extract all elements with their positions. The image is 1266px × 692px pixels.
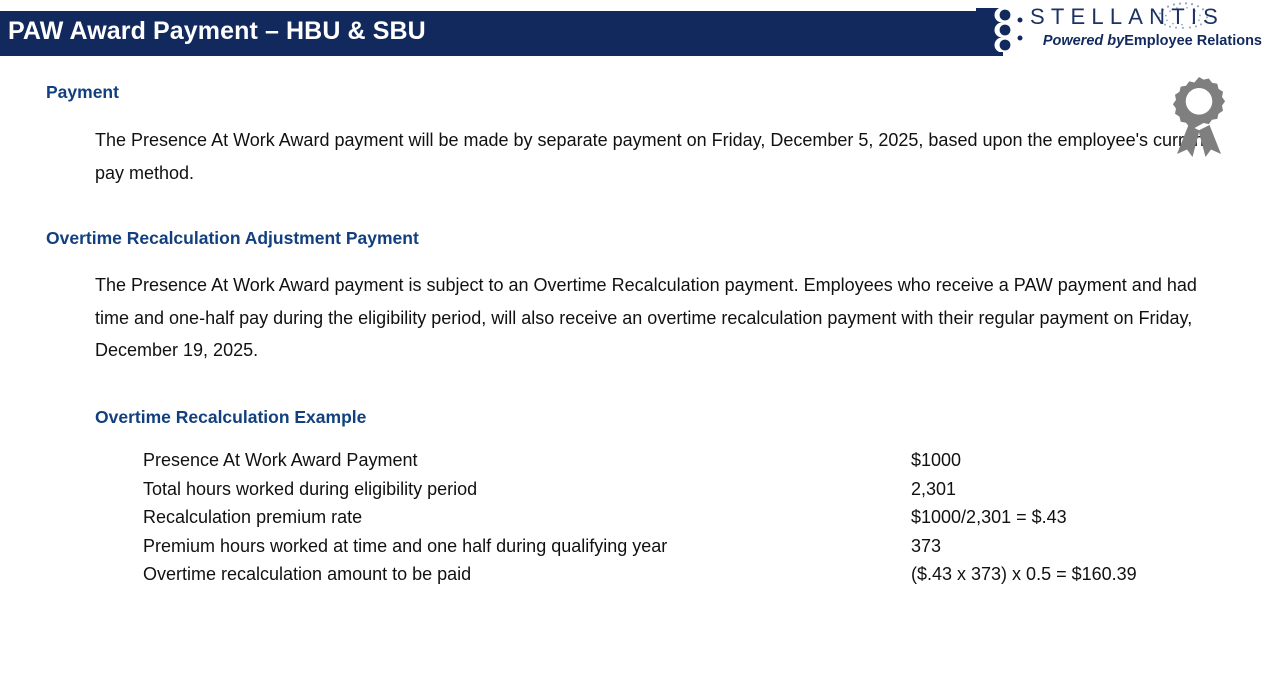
- section-heading-payment: Payment: [46, 81, 119, 103]
- stellantis-dots-icon: [976, 8, 1026, 52]
- paragraph-payment: The Presence At Work Award payment will …: [95, 124, 1220, 189]
- logo-tagline-employee-relations: Employee Relations: [1124, 33, 1262, 49]
- table-row: Recalculation premium rate $1000/2,301 =…: [143, 503, 1203, 532]
- example-row-value: $1000/2,301 = $.43: [911, 503, 1203, 532]
- table-row: Total hours worked during eligibility pe…: [143, 475, 1203, 504]
- page-title: PAW Award Payment – HBU & SBU: [8, 17, 426, 46]
- example-row-label: Total hours worked during eligibility pe…: [143, 475, 911, 504]
- overtime-example-table: Presence At Work Award Payment $1000 Tot…: [143, 446, 1203, 589]
- section-heading-overtime-adjustment: Overtime Recalculation Adjustment Paymen…: [46, 227, 419, 249]
- table-row: Premium hours worked at time and one hal…: [143, 532, 1203, 561]
- paragraph-overtime-adjustment: The Presence At Work Award payment is su…: [95, 269, 1220, 367]
- example-row-label: Premium hours worked at time and one hal…: [143, 532, 911, 561]
- example-row-label: Presence At Work Award Payment: [143, 446, 911, 475]
- example-row-value: 373: [911, 532, 1203, 561]
- stellantis-wordmark: STELLANTIS: [1030, 2, 1262, 32]
- overtime-example-table-body: Presence At Work Award Payment $1000 Tot…: [143, 446, 1203, 589]
- logo-tagline: Powered byEmployee Relations: [1030, 32, 1262, 51]
- svg-text:STELLANTIS: STELLANTIS: [1030, 4, 1224, 29]
- example-row-label: Recalculation premium rate: [143, 503, 911, 532]
- table-row: Overtime recalculation amount to be paid…: [143, 560, 1203, 589]
- example-row-value: $1000: [911, 446, 1203, 475]
- logo-tagline-powered-by: Powered by: [1043, 33, 1124, 49]
- award-ribbon-icon: [1166, 76, 1232, 158]
- table-row: Presence At Work Award Payment $1000: [143, 446, 1203, 475]
- example-row-value: 2,301: [911, 475, 1203, 504]
- example-row-label: Overtime recalculation amount to be paid: [143, 560, 911, 589]
- example-row-value: ($.43 x 373) x 0.5 = $160.39: [911, 560, 1203, 589]
- section-heading-overtime-example: Overtime Recalculation Example: [95, 406, 366, 428]
- stellantis-logo: STELLANTIS Powered byEmployee Relations: [976, 2, 1262, 56]
